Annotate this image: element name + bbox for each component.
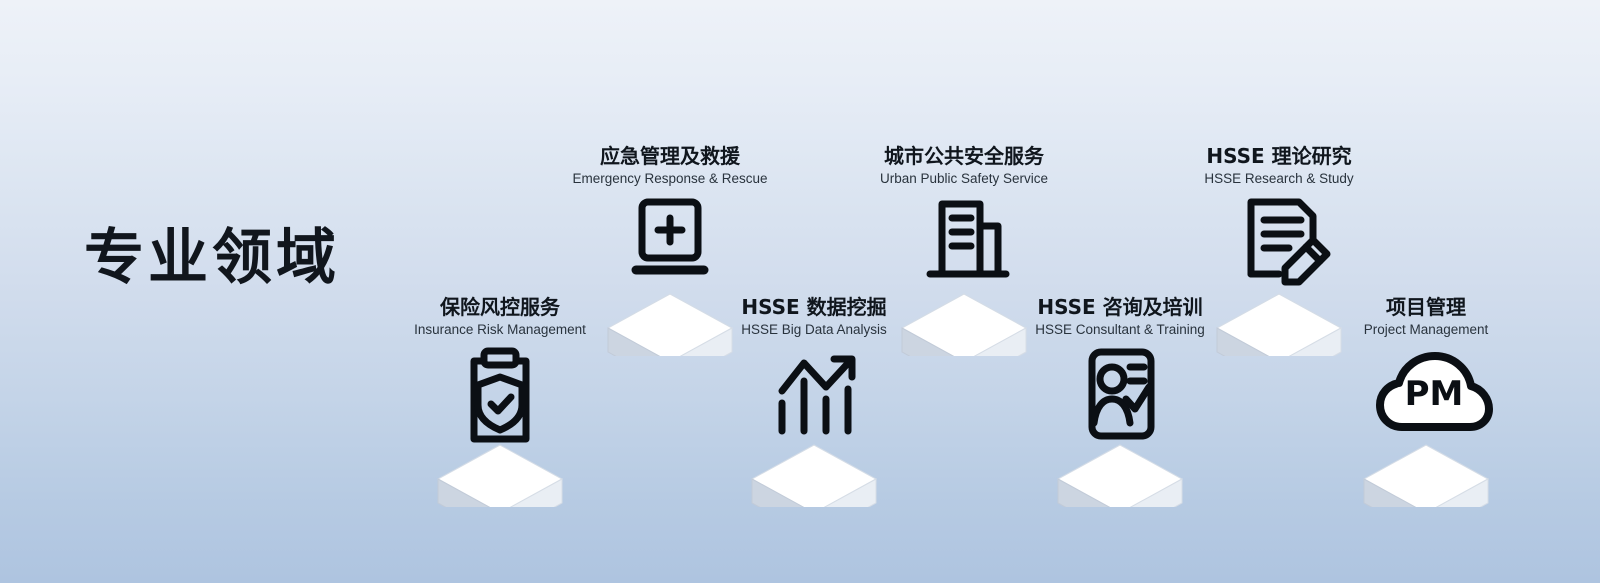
bar-chart-trend-icon-svg	[739, 347, 889, 507]
field-item-urban-public-safety-service[interactable]: 城市公共安全服务Urban Public Safety Service	[834, 144, 1094, 316]
field-item-labels: 城市公共安全服务Urban Public Safety Service	[834, 144, 1094, 188]
isometric-platform	[752, 445, 876, 507]
field-item-project-management[interactable]: 项目管理Project ManagementPM	[1296, 295, 1556, 467]
isometric-platform	[1058, 445, 1182, 507]
field-label-en: HSSE Consultant & Training	[990, 322, 1250, 339]
field-item-insurance-risk-management[interactable]: 保险风控服务Insurance Risk Management	[370, 295, 630, 467]
field-item-emergency-response-rescue[interactable]: 应急管理及救援Emergency Response & Rescue	[540, 144, 800, 316]
field-item-labels: 保险风控服务Insurance Risk Management	[370, 295, 630, 339]
field-label-en: HSSE Big Data Analysis	[684, 322, 944, 339]
bar-chart-trend-icon	[782, 359, 852, 431]
field-label-en: Urban Public Safety Service	[834, 171, 1094, 188]
field-label-cn: HSSE 咨询及培训	[990, 295, 1250, 320]
cloud-pm-label: PM	[1405, 374, 1464, 414]
field-icon-artwork	[684, 347, 944, 467]
field-label-en: Emergency Response & Rescue	[540, 171, 800, 188]
field-icon-artwork	[990, 347, 1250, 467]
field-item-labels: HSSE 数据挖掘HSSE Big Data Analysis	[684, 295, 944, 339]
field-item-hsse-big-data-analysis[interactable]: HSSE 数据挖掘HSSE Big Data Analysis	[684, 295, 944, 467]
field-label-en: Insurance Risk Management	[370, 322, 630, 339]
field-item-labels: HSSE 咨询及培训HSSE Consultant & Training	[990, 295, 1250, 339]
field-item-labels: 应急管理及救援Emergency Response & Rescue	[540, 144, 800, 188]
buildings-icon	[930, 204, 1006, 274]
clipboard-shield-check-icon	[474, 351, 526, 439]
field-icon-artwork: PM	[1296, 347, 1556, 467]
field-item-hsse-consultant-training[interactable]: HSSE 咨询及培训HSSE Consultant & Training	[990, 295, 1250, 467]
field-icon-artwork	[370, 347, 630, 467]
cloud-pm-icon-svg: PM	[1351, 347, 1501, 507]
document-pencil-icon	[1251, 202, 1327, 282]
field-item-labels: HSSE 理论研究HSSE Research & Study	[1149, 144, 1409, 188]
field-label-cn: 保险风控服务	[370, 295, 630, 320]
field-label-cn: 项目管理	[1296, 295, 1556, 320]
field-item-hsse-research-study[interactable]: HSSE 理论研究HSSE Research & Study	[1149, 144, 1409, 316]
field-label-en: Project Management	[1296, 322, 1556, 339]
field-label-cn: 城市公共安全服务	[834, 144, 1094, 169]
monitor-plus-icon	[642, 202, 698, 258]
clipboard-shield-check-icon-svg	[425, 347, 575, 507]
cloud-pm-icon: PM	[1380, 356, 1489, 427]
person-card-check-icon	[1092, 352, 1151, 436]
field-label-cn: HSSE 理论研究	[1149, 144, 1409, 169]
field-label-en: HSSE Research & Study	[1149, 171, 1409, 188]
field-item-labels: 项目管理Project Management	[1296, 295, 1556, 339]
isometric-platform	[438, 445, 562, 507]
field-label-cn: 应急管理及救援	[540, 144, 800, 169]
professional-fields-banner: 专业领域 应急管理及救援Emergency Response & Rescue城…	[0, 0, 1600, 583]
field-label-cn: HSSE 数据挖掘	[684, 295, 944, 320]
person-card-check-icon-svg	[1045, 347, 1195, 507]
isometric-platform	[1364, 445, 1488, 507]
page-title: 专业领域	[84, 228, 340, 288]
